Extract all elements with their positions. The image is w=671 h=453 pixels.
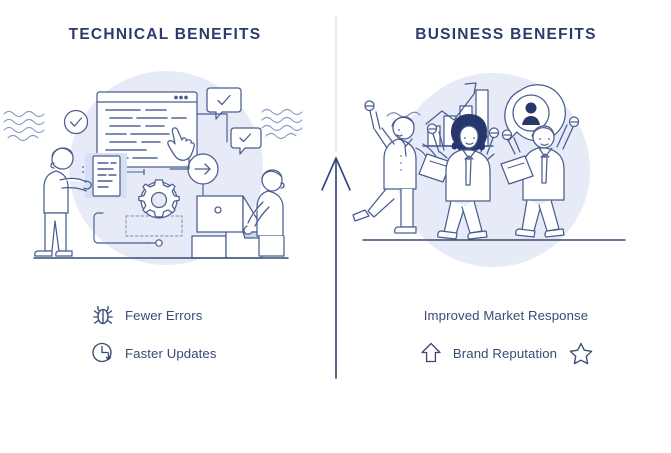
- list-item[interactable]: Improved Market Response: [341, 296, 671, 334]
- panel-business-benefits: BUSINESS BENEFITS: [341, 0, 671, 448]
- illustration-technical: [0, 68, 330, 273]
- star-icon: [568, 340, 594, 366]
- benefit-label: Improved Market Response: [424, 308, 588, 323]
- page-title-business: BUSINESS BENEFITS: [341, 26, 671, 44]
- gear-icon: [139, 180, 179, 218]
- benefit-label: Fewer Errors: [125, 308, 202, 323]
- benefits-list-business: Improved Market Response Brand Reputatio…: [341, 296, 671, 372]
- illustration-business: [341, 68, 671, 273]
- wave-lines-left: [4, 112, 44, 141]
- infographic-canvas: TECHNICAL BENEFITS: [0, 0, 671, 448]
- check-circle-icon: [65, 111, 88, 134]
- list-item[interactable]: Brand Reputation: [341, 334, 671, 372]
- list-item[interactable]: Fewer Errors: [0, 296, 330, 334]
- arrow-circle-icon: [188, 154, 218, 184]
- bug-icon: [90, 302, 116, 328]
- clock-icon: [90, 340, 116, 366]
- wave-lines-right: [262, 110, 302, 139]
- benefit-label: Faster Updates: [125, 346, 217, 361]
- arrow-up-icon: [418, 340, 444, 366]
- benefits-list-technical: Fewer Errors Faster Updates: [0, 296, 330, 372]
- page-title-technical: TECHNICAL BENEFITS: [0, 26, 330, 44]
- benefit-label: Brand Reputation: [453, 346, 557, 361]
- panel-technical-benefits: TECHNICAL BENEFITS: [0, 0, 330, 448]
- list-item[interactable]: Faster Updates: [0, 334, 330, 372]
